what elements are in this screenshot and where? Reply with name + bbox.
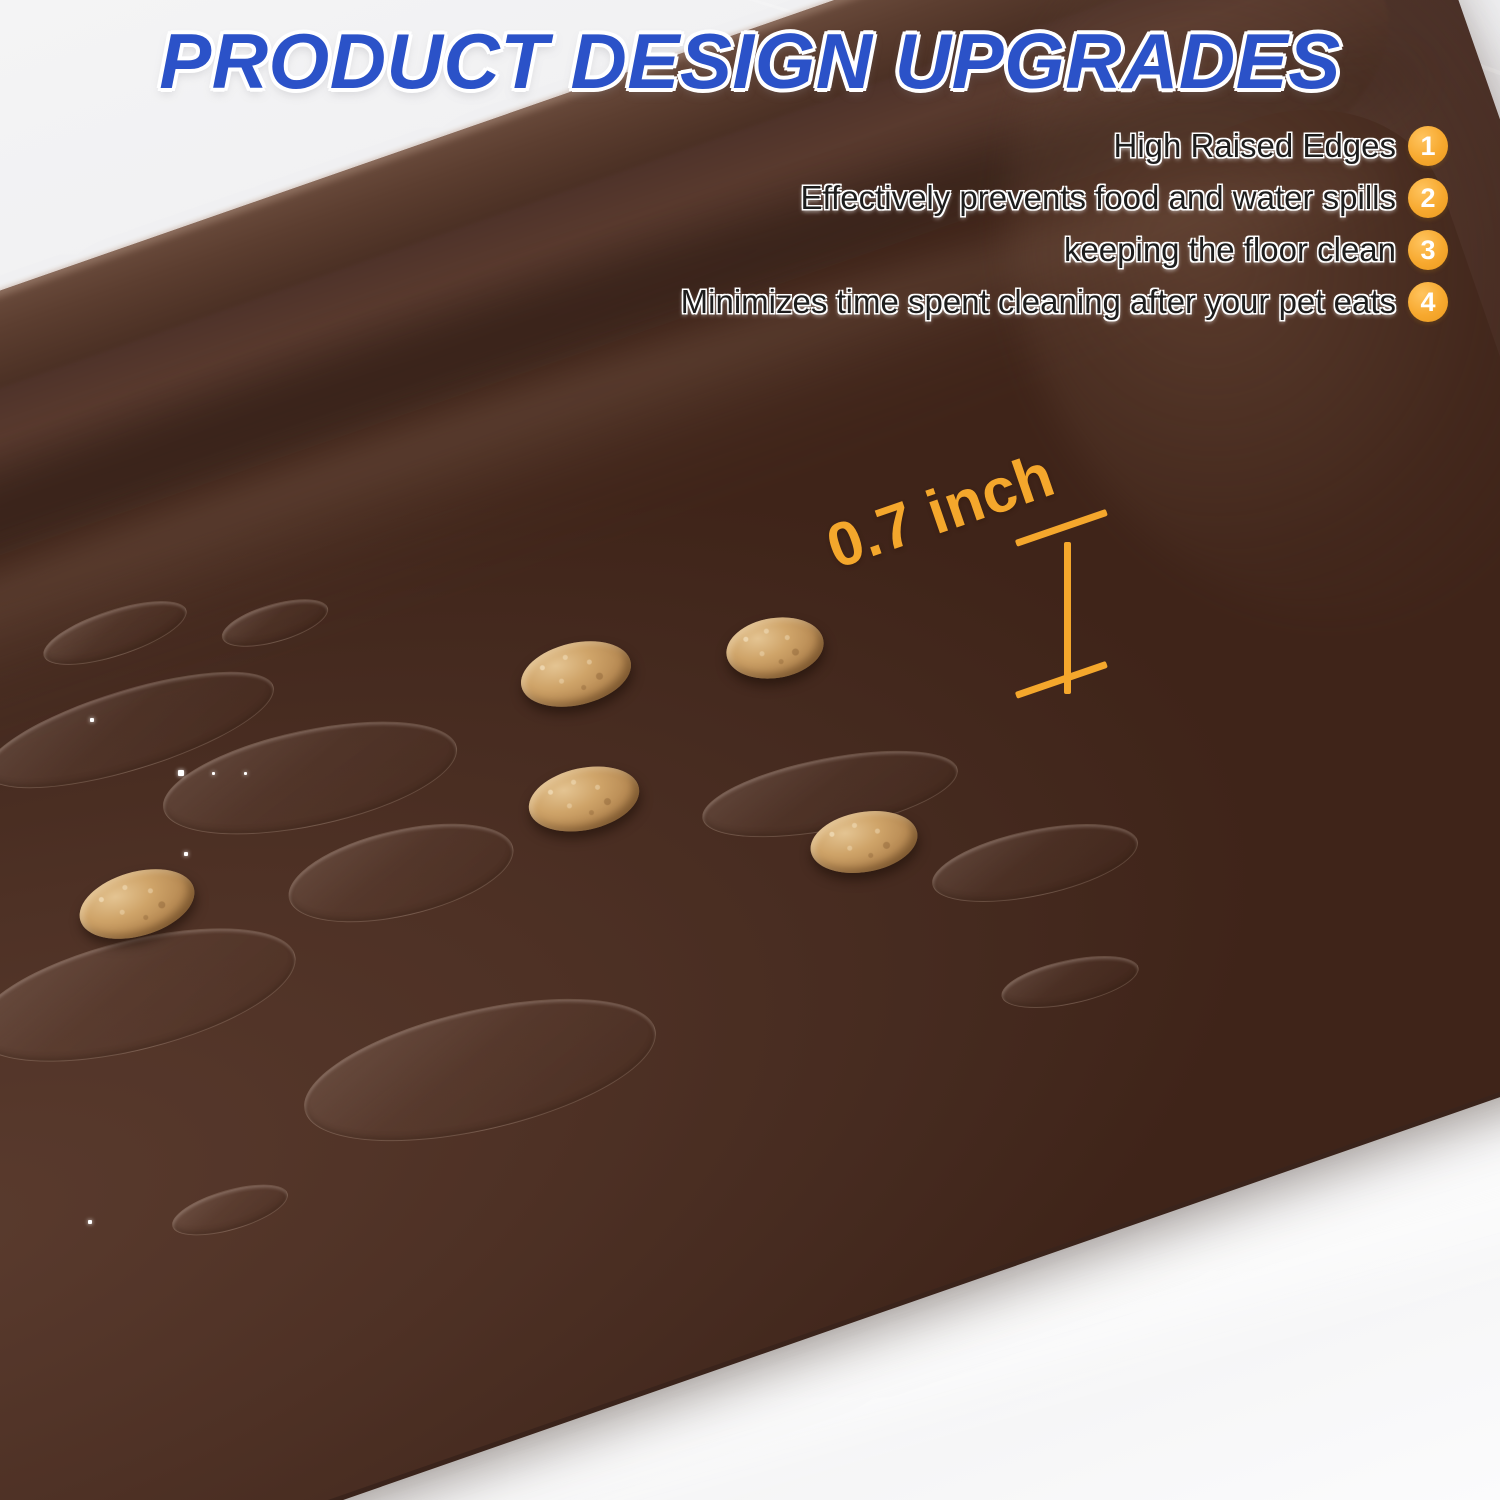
feature-number-badge: 1: [1408, 126, 1448, 166]
feature-item: Minimizes time spent cleaning after your…: [468, 278, 1448, 326]
water-sparkle: [244, 772, 247, 775]
water-sparkle: [184, 852, 188, 856]
feature-number-badge: 2: [1408, 178, 1448, 218]
feature-number-badge: 3: [1408, 230, 1448, 270]
feature-item: keeping the floor clean 3: [468, 226, 1448, 274]
dimension-ibeam-icon: [1020, 524, 1140, 714]
feature-list: High Raised Edges 1 Effectively prevents…: [468, 122, 1448, 330]
water-sparkle: [212, 772, 215, 775]
feature-item: Effectively prevents food and water spil…: [468, 174, 1448, 222]
water-sparkle: [90, 718, 94, 722]
feature-label: High Raised Edges: [1114, 127, 1397, 165]
water-sparkle: [88, 1220, 92, 1224]
dimension-line: [1064, 542, 1071, 694]
product-infographic: 0.7 inch PRODUCT DESIGN UPGRADES High Ra…: [0, 0, 1500, 1500]
feature-label: Minimizes time spent cleaning after your…: [681, 283, 1396, 321]
page-title: PRODUCT DESIGN UPGRADES: [0, 16, 1500, 107]
dimension-cap-bottom: [1015, 661, 1108, 699]
water-sparkle: [178, 770, 184, 776]
feature-label: Effectively prevents food and water spil…: [800, 179, 1396, 217]
feature-item: High Raised Edges 1: [468, 122, 1448, 170]
feature-number-badge: 4: [1408, 282, 1448, 322]
feature-label: keeping the floor clean: [1064, 231, 1396, 269]
